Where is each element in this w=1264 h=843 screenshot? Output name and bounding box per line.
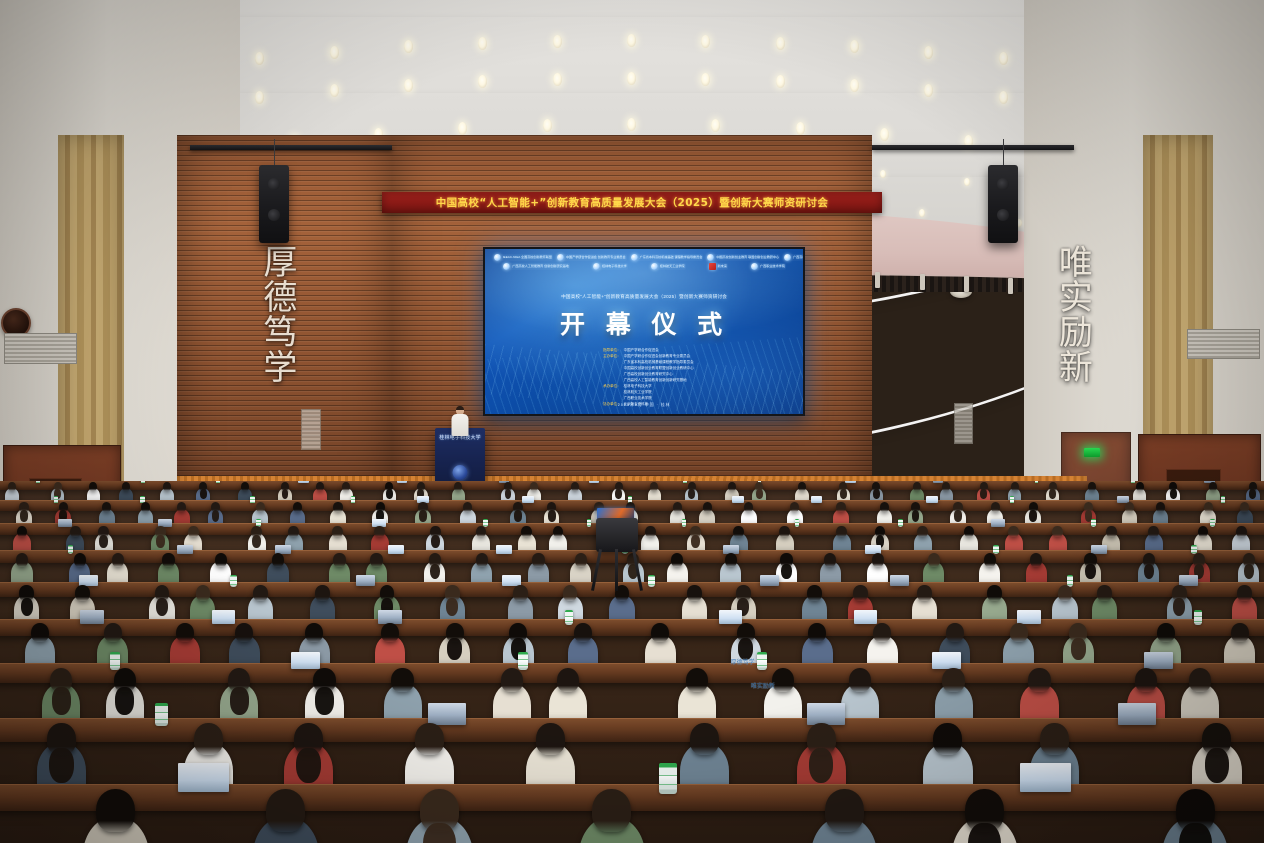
audience-member-hair [156,535,165,548]
audience-member-head [946,623,964,643]
attendee-laptop [212,610,235,624]
attendee-laptop [522,496,534,503]
bottle-label [483,522,488,526]
ceiling-downlight [776,37,785,50]
credit-value: 中国产学研合作促进会 [624,348,659,353]
audience-member-hair [52,687,71,715]
speaker-cone-icon [268,209,280,221]
attendee-laptop [845,481,855,483]
credit-value: 中国产学研合作促进会创新教育专业委员会 [624,354,691,359]
logo-caption: 广东省本科高校机械基础 课程教学指导委员会 [640,256,703,260]
audience-member-head [241,482,249,491]
audience-member-hair [1244,564,1254,579]
bottle-label [216,481,220,484]
attendee-laptop [1144,652,1173,669]
audience-member-head [253,585,268,601]
audience-member-hair [431,535,440,548]
audience-member-hair [115,687,134,715]
screen-credit-line: 广西高校人工智能教育创新创新研究基地 [595,378,687,383]
left-wall-vent [4,333,77,364]
audience-member-head [825,789,864,832]
logo-mark-icon [631,254,638,261]
ceiling-downlight [919,209,925,217]
audience-member-head [991,502,1000,512]
audience-member-head [521,526,532,538]
water-bottle [110,652,120,670]
audience-member-hair [873,489,880,499]
audience-member-head [1236,526,1247,538]
screen-logo-row-1: IEEAC-NIEA 全国高校创新教育联盟中国产学研合作促进会 创新教育专业委员… [493,254,796,261]
audience-member-head [563,585,578,601]
audience-member-head [176,623,194,643]
audience-member-head [162,553,174,567]
bottle-label [659,775,677,785]
audience-member-head [293,502,302,512]
bottle-label [36,481,40,484]
bottle-label [155,712,168,720]
audience-member-hair [809,748,833,784]
wall-calligraphy-right: 唯实励新 [1029,244,1093,384]
audience-member-head [928,553,940,567]
audience-member-hair [252,535,261,548]
bottle-label [518,659,528,666]
attendee-laptop [719,610,742,624]
screen-logo-chip: 广东省本科高校机械基础 课程教学指导委员会 [630,254,704,261]
screen-credit-line: 桂林航天工业学院 [595,390,652,395]
audience-member-hair [1205,748,1229,784]
screen-logo-chip: 广西高校人工智能教育 创新创新研究基地 [502,263,570,270]
audience-member-hair [1144,564,1154,579]
bottle-label [1221,499,1225,503]
water-bottle [216,481,220,484]
bottle-label [1210,522,1215,526]
attendee-laptop [807,703,845,725]
audience-member-head [1097,585,1112,601]
water-bottle [36,481,40,484]
audience-member-head [984,553,996,567]
audience-member-head [987,585,1002,601]
audience-member-head [1052,526,1063,538]
audience-member-head [725,553,737,567]
audience-member-head [836,502,845,512]
audience-member-head [1040,723,1069,755]
ceiling-downlight [553,73,562,86]
right-wall-vent [1187,329,1260,360]
logo-caption: 中国产学研合作促进会 创新教育专业委员会 [566,256,626,260]
audience-member-head [1010,623,1028,643]
audience-member-head [703,502,712,512]
bottle-label [565,616,573,622]
bottle-label [54,499,58,503]
ceiling-downlight [627,34,636,47]
attendee-laptop [80,610,103,624]
audience-member-hair [230,687,249,715]
audience-member-hair [691,535,700,548]
audience-member-head [571,482,579,491]
logo-mark-icon [651,263,658,270]
right-truss [872,145,1074,150]
audience-member-head [235,623,253,643]
water-bottle [1221,496,1225,503]
audience-member-hair [447,638,462,660]
right-line-array-speaker [988,165,1018,243]
audience-member-hair [212,510,220,521]
audience-member-hair [1170,489,1177,499]
audience-desk-row [0,718,1264,742]
credit-value: 广西职业技术学院 [624,396,652,401]
water-bottle [1131,481,1135,484]
audience-member-head [557,668,579,693]
audience-member-head [872,553,884,567]
audience-member-head [75,585,90,601]
ceiling-downlight [543,119,552,132]
ceiling-downlight [880,128,889,141]
audience-member-head [592,789,631,832]
audience-member-head [933,723,962,755]
audience-member-head [1028,668,1050,693]
logo-caption: 广西高校创新创业教育 研究中心 [793,256,805,260]
audience-member-head [476,553,488,567]
attendee-laptop [854,610,877,624]
logo-caption: 中国高校创新创业教育 联盟创新创业教研中心 [716,256,779,260]
audience-member-hair [20,510,28,521]
soffit-fin [875,272,880,288]
logo-caption: 桂林航天工业学院 [660,265,685,269]
camera-body [596,518,638,552]
audience-member-hair [781,564,791,579]
audience-member-head [1189,668,1211,693]
tripod-leg [591,549,602,591]
audience-member-head [824,553,836,567]
tshirt-slogan-line1: 厚德笃学 [731,659,755,667]
screen-logo-chip: 中国高校创新创业教育 联盟创新创业教研中心 [706,254,780,261]
audience-member-head [690,723,719,755]
audience-member-head [651,623,669,643]
audience-member-hair [386,489,393,499]
ceiling-downlight [999,52,1008,65]
screen-subtitle: 中国高校“人工智能+”创新教育高质量发展大会（2025）暨创新大赛师资研讨会 [485,294,804,300]
soffit-fin [964,276,969,292]
credit-key: 指导单位： [595,348,621,353]
audience-member-head [1125,502,1134,512]
ceiling-downlight [330,46,339,59]
attendee-laptop [760,575,779,586]
attendee-laptop [1118,703,1156,725]
logo-caption: 广西职业技术学院 [760,265,785,269]
audience-member-head [370,553,382,567]
bottle-label [1010,499,1014,503]
audience-member-hair [615,489,622,499]
audience-member-head [1136,482,1144,491]
attendee-laptop [732,496,744,503]
screen-logo-chip: 新未来 [708,263,728,270]
audience-member-head [779,526,790,538]
credit-value: 广西高校人工智能教育创新创新研究基地 [624,378,687,383]
audience-member-head [194,723,223,755]
water-bottle [648,575,655,587]
audience-member-head [849,668,871,693]
attendee-laptop [496,545,512,554]
audience-member-head [836,526,847,538]
attendee-laptop [388,545,404,554]
audience-member-hair [430,564,440,579]
screen-logo-chip: 桂林航天工业学院 [650,263,686,270]
audience-member-head [141,502,150,512]
logo-caption: 广西高校人工智能教育 创新创新研究基地 [512,265,569,269]
screen-credit-line: 指导单位：中国产学研合作促进会 [595,348,659,353]
audience-member-hair [200,489,207,499]
audience-member-head [501,668,523,693]
credit-value: 广西高校创新创业教育研究中心 [624,372,673,377]
audience-member-head [316,482,324,491]
logo-caption: 新未来 [718,265,727,269]
wall-calligraphy-left: 厚德笃学 [234,244,298,384]
audience-member-head [1030,553,1042,567]
attendee-laptop [932,652,961,669]
audience-member-head [808,623,826,643]
audience-member-head [256,502,265,512]
audience-member-head [913,482,921,491]
audience-member-head [196,585,211,601]
audience-member-head [575,553,587,567]
audience-member-hair [912,510,920,521]
logo-mark-icon [494,254,501,261]
audience-member-head [89,482,97,491]
audience-member-head [288,526,299,538]
water-bottle [757,652,767,670]
bottle-label [1091,522,1096,526]
audience-member-head [873,623,891,643]
speaker-cone-icon [997,178,1009,190]
logo-caption: IEEAC-NIEA 全国高校创新教育联盟 [503,256,552,260]
audience-member-head [215,553,227,567]
screen-logo-row-2: 广西高校人工智能教育 创新创新研究基地桂林电子科技大学桂林航天工业学院新未来广西… [493,263,796,270]
stage-speaker [444,406,477,435]
water-bottle [898,519,903,527]
water-bottle [68,545,74,555]
credit-value: 广东省本科高校机械基础课程教学指导委员会 [624,360,694,365]
audience-member-head [530,482,538,491]
audience-member-head [188,526,199,538]
audience-member-hair [1029,510,1037,521]
ceiling-downlight [627,118,636,131]
audience-member-head [96,789,135,832]
attendee-laptop [1020,763,1071,792]
audience-member-head [454,482,462,491]
bottle-label [683,481,687,484]
credit-value: 中国高校创新创业教育联盟创新创业教研中心 [624,366,694,371]
audience-member-head [798,482,806,491]
audience-member-hair [980,489,987,499]
bottle-label [993,549,999,554]
audience-member-head [728,482,736,491]
audience-member-head [1156,502,1165,512]
water-bottle [230,575,237,587]
university-emblem-icon [453,465,468,480]
bottle-label [1067,580,1074,585]
attendee-laptop [890,575,909,586]
left-truss [190,145,392,150]
bottle-label [230,580,237,585]
attendee-laptop [298,481,308,483]
bottle-label [1194,616,1202,622]
audience-member-head [17,526,28,538]
audience-desk-row [0,481,1264,491]
led-presentation-screen: IEEAC-NIEA 全国高校创新教育联盟中国产学研合作促进会 创新教育专业委员… [483,247,806,416]
water-bottle [682,519,687,527]
logo-mark-icon [751,263,758,270]
credit-key: 主办单位： [595,354,621,359]
audience-desk-row [0,663,1264,683]
audience-member-head [1011,482,1019,491]
screen-credit-line: 承办单位：桂林电子科技大学 [595,384,652,389]
ceiling-downlight [330,84,339,97]
tripod-video-camera [588,507,646,591]
audience-member-hair [1071,638,1086,660]
audience-member-hair [315,687,334,715]
attendee-laptop [178,763,229,792]
attendee-laptop [811,496,823,503]
water-bottle [1035,481,1039,484]
audience-member-hair [1085,564,1095,579]
logo-mark-icon [557,254,564,261]
logo-mark-icon [709,263,716,270]
backwall-window-left [301,409,321,450]
bottle-label [351,499,355,503]
bottle-label [898,522,903,526]
screen-credits-block: 指导单位：中国产学研合作促进会主办单位：中国产学研合作促进会创新教育专业委员会广… [595,348,694,407]
audience-member-head [332,526,343,538]
exit-sign-icon [1084,448,1100,457]
bottle-label [68,549,74,554]
audience-member-head [1157,623,1175,643]
audience-member-head [532,553,544,567]
audience-member-head [1135,668,1157,693]
ceiling-downlight [776,75,785,88]
audience-member-head [122,482,130,491]
audience-member-head [942,668,964,693]
water-bottle [1010,496,1014,503]
audience-member-head [574,623,592,643]
tripod-leg [615,549,618,591]
attendee-laptop [589,481,599,483]
logo-mark-icon [784,254,791,261]
screen-date-line: 2025年8月 中国 · 桂林 [485,403,804,408]
screen-credit-line: 广东省本科高校机械基础课程教学指导委员会 [595,360,694,365]
audience-member-head [772,668,794,693]
attendee-laptop [1017,610,1040,624]
audience-member-hair [156,598,168,616]
attendee-laptop [177,545,193,554]
screen-credit-line: 广西职业技术学院 [595,396,652,401]
audience-member-head [374,526,385,538]
soffit-fin [1008,278,1013,294]
audience-member-head [333,553,345,567]
water-bottle [54,496,58,503]
bottle-label [110,659,120,666]
water-bottle [250,496,254,503]
screen-main-title: 开 幕 仪 式 [485,305,804,341]
audience-member-hair [548,510,556,521]
audience-member-head [964,526,975,538]
audience-member-head [513,585,528,601]
event-banner-text: 中国高校“人工智能+”创新教育高质量发展大会（2025）暨创新大赛师资研讨会 [436,195,829,210]
screen-credit-line: 中国高校创新创业教育联盟创新创业教研中心 [595,366,694,371]
audience-member-head [391,668,413,693]
attendee-laptop [397,481,407,483]
audience-member-hair [99,535,108,548]
audience-member-hair [756,489,763,499]
ceiling-downlight [880,170,886,178]
soffit-fin [920,274,925,290]
audience-member-head [1008,526,1019,538]
water-bottle [351,496,355,503]
audience-member-head [1231,623,1249,643]
audience-member-head [31,623,49,643]
bottle-label [250,499,254,503]
audience-member-head [1148,526,1159,538]
bottle-label [682,522,687,526]
audience-member-hair [49,748,73,784]
attendee-laptop [378,610,401,624]
bottle-label [1131,481,1135,484]
audience-member-head [733,526,744,538]
audience-member-head [8,482,16,491]
attendee-laptop [291,652,320,669]
audience-member-head [686,668,708,693]
ceiling-downlight [796,122,805,135]
audience-member-head [333,502,342,512]
screen-logo-chip: IEEAC-NIEA 全国高校创新教育联盟 [493,254,553,261]
audience-member-head [536,723,565,755]
auditorium-photo: 厚德笃学 唯实励新 中国高校“人工智能+”创新教育高质量发展大会（2025）暨创… [0,0,1264,843]
audience-member-head [807,585,822,601]
bottle-label [141,481,145,484]
audience-member-head [112,553,124,567]
ceiling-downlight [553,35,562,48]
attendee-laptop [926,496,938,503]
audience-member-head [1237,585,1252,601]
screen-credit-line: 广西高校创新创业教育研究中心 [595,372,673,377]
audience-member-head [673,502,682,512]
bottle-label [757,659,767,666]
water-bottle [565,610,573,624]
speaker-cone-icon [997,209,1009,221]
water-bottle [1210,519,1215,527]
attendee-laptop [933,481,943,483]
audience-member-hair [688,489,695,499]
audience-member-head [1088,482,1096,491]
ceiling-downlight [850,79,859,92]
credit-key: 承办单位： [595,384,621,389]
audience-member-head [381,623,399,643]
audience-member-head [342,482,350,491]
tripod-legs [595,549,639,591]
audience-member-head [553,526,564,538]
audience-member-head [315,585,330,601]
screen-logo-chip: 广西职业技术学院 [750,263,786,270]
audience-member-head [272,553,284,567]
ceiling-downlight [964,178,970,186]
water-bottle [518,652,528,670]
water-bottle [993,545,999,555]
audience-member-head [880,502,889,512]
audience-member-head [1204,502,1213,512]
audience-member-head [74,553,86,567]
water-bottle [141,481,145,484]
event-banner: 中国高校“人工智能+”创新教育高质量发展大会（2025）暨创新大赛师资研讨会 [382,192,883,213]
logo-mark-icon [593,263,600,270]
